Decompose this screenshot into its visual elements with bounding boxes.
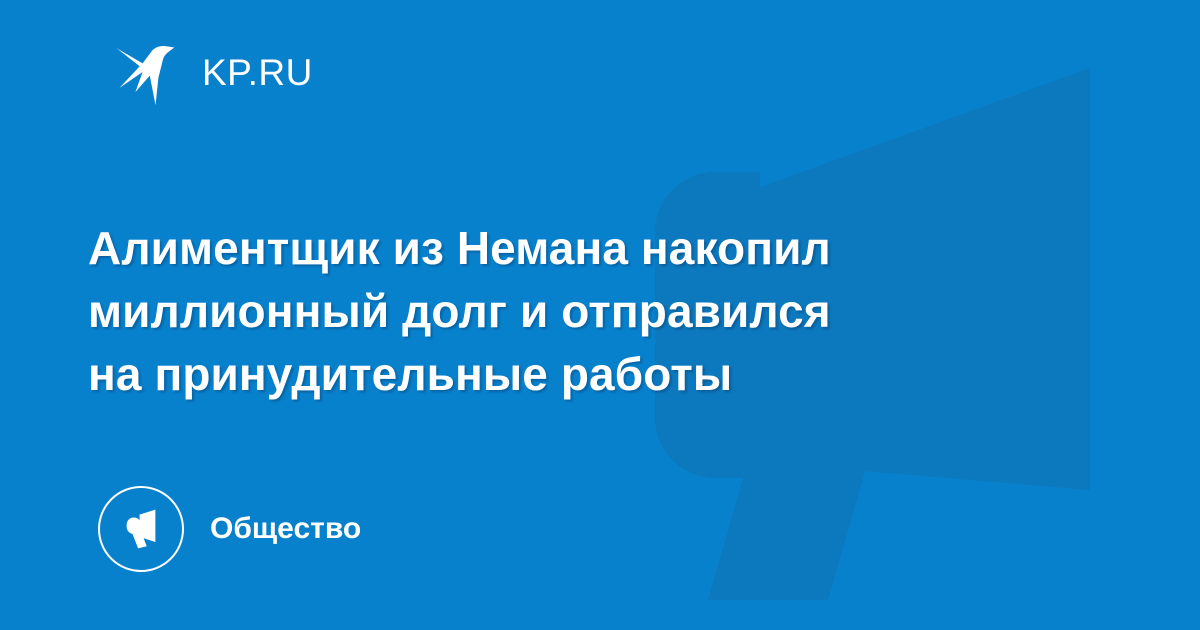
- megaphone-icon: [118, 506, 164, 552]
- category-icon-circle: [98, 486, 184, 572]
- brand-wordmark: KP.RU: [202, 54, 313, 91]
- brand-logo[interactable]: KP.RU: [108, 36, 313, 108]
- headline-line-1: Алиментщик из Немана накопил: [88, 217, 1048, 280]
- category-badge[interactable]: Общество: [98, 483, 361, 575]
- swallow-bird-icon: [108, 36, 180, 108]
- category-label: Общество: [210, 514, 361, 544]
- social-share-card: KP.RU Алиментщик из Немана накопил милли…: [0, 0, 1200, 630]
- headline-line-2: миллионный долг и отправился: [88, 280, 1048, 343]
- headline-line-3: на принудительные работы: [88, 343, 1048, 406]
- headline: Алиментщик из Немана накопил миллионный …: [88, 217, 1048, 406]
